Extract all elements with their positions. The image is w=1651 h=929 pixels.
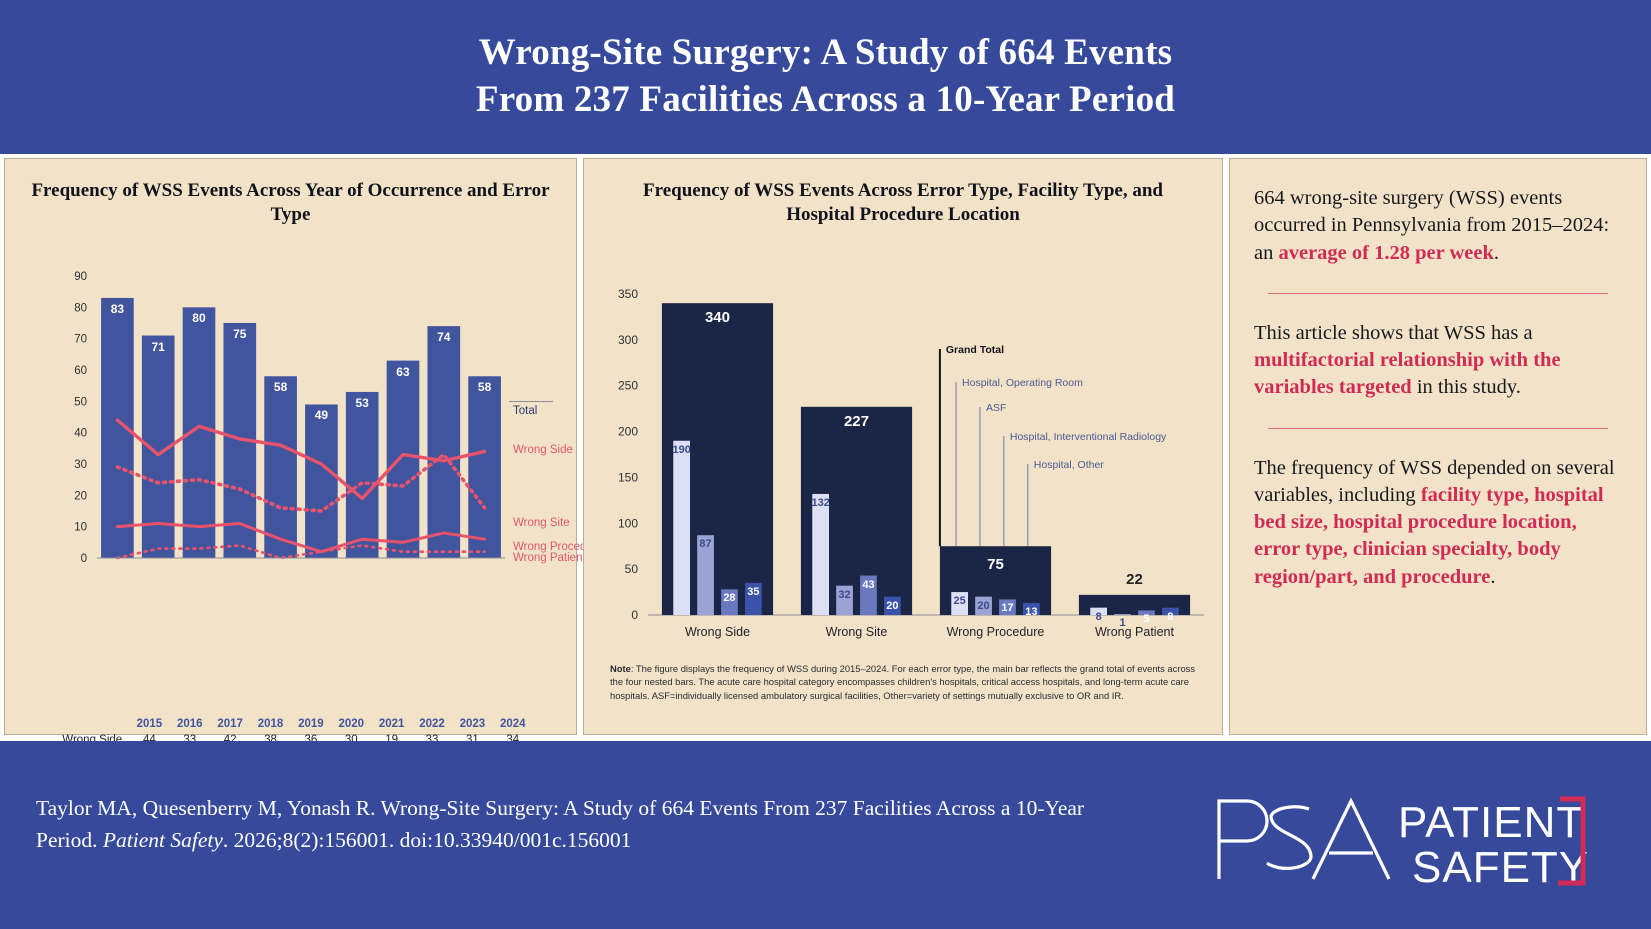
svg-text:80: 80	[74, 302, 87, 314]
chart1-legend-item: Wrong Site	[513, 517, 570, 529]
svg-text:200: 200	[618, 425, 638, 439]
chart2-note-text: : The figure displays the frequency of W…	[610, 663, 1195, 701]
svg-text:250: 250	[618, 379, 638, 393]
chart2-grand-total-value: 22	[1079, 571, 1190, 588]
finding-2-text-b: in this study.	[1412, 376, 1521, 398]
chart2-category-label: Wrong Patient	[1055, 625, 1214, 639]
psa-patient-safety-logo: PATIENT SAFETY	[1205, 783, 1605, 891]
chart1-table-year: 2018	[250, 716, 290, 732]
panel-chart-error-facility-location: Frequency of WSS Events Across Error Typ…	[583, 158, 1223, 735]
chart1-bar-value: 83	[101, 302, 134, 316]
chart1-bar-value: 58	[264, 380, 297, 394]
chart2-series-value: 190	[667, 444, 696, 456]
chart1-table-year: 2015	[129, 716, 169, 732]
chart2-series-value: 8	[1156, 611, 1185, 623]
chart2-note: Note: The figure displays the frequency …	[610, 662, 1210, 702]
citation-text-b: . 2026;8(2):156001. doi:10.33940/001c.15…	[223, 828, 631, 852]
chart2-category-label: Wrong Site	[777, 625, 936, 639]
citation-journal: Patient Safety	[103, 828, 223, 852]
chart1-bar-value: 80	[183, 311, 216, 325]
divider-2	[1268, 428, 1608, 429]
finding-block-1: 664 wrong-site surgery (WSS) events occu…	[1254, 185, 1622, 267]
svg-text:20: 20	[74, 490, 87, 502]
psa-monogram-icon	[1219, 801, 1389, 879]
finding-3-text-b: .	[1490, 566, 1495, 588]
chart2-grand-total-value: 75	[940, 556, 1051, 573]
chart2-leader-label: Hospital, Other	[1034, 459, 1104, 471]
divider-1	[1268, 293, 1608, 294]
logo-word-patient: PATIENT	[1398, 798, 1584, 847]
finding-2-text-a: This article shows that WSS has a	[1254, 322, 1533, 344]
svg-text:0: 0	[81, 553, 87, 565]
svg-text:50: 50	[625, 562, 639, 576]
chart2-grand-total-value: 340	[662, 309, 773, 326]
chart1-table-year: 2019	[291, 716, 331, 732]
chart2-series-value: 43	[854, 579, 883, 591]
citation: Taylor MA, Quesenberry M, Yonash R. Wron…	[36, 793, 1116, 857]
chart2-series-value: 132	[806, 497, 835, 509]
chart1-legend-item: Total	[513, 405, 537, 417]
finding-1-text-b: .	[1494, 242, 1499, 264]
svg-text:40: 40	[74, 428, 87, 440]
chart1-bar-value: 49	[305, 408, 338, 422]
svg-text:30: 30	[74, 459, 87, 471]
page-footer: Taylor MA, Quesenberry M, Yonash R. Wron…	[0, 741, 1651, 929]
chart1-table-year: 2020	[331, 716, 371, 732]
chart2-grand-total-value: 227	[801, 413, 912, 430]
chart2-series-value: 13	[1017, 606, 1046, 618]
chart1-plot: 0102030405060708090 83718075584953637458…	[5, 159, 578, 579]
chart1-legend-item: Wrong Patient	[513, 552, 586, 564]
finding-1-highlight: average of 1.28 per week	[1278, 242, 1493, 264]
chart2-note-label: Note	[610, 663, 631, 674]
chart1-bar-value: 71	[142, 340, 175, 354]
page-title: Wrong-Site Surgery: A Study of 664 Event…	[476, 30, 1175, 123]
chart2-category-label: Wrong Side	[638, 625, 797, 639]
svg-text:60: 60	[74, 365, 87, 377]
chart2-leader-label: ASF	[986, 402, 1006, 414]
logo-wordmark: PATIENT SAFETY	[1398, 798, 1589, 891]
svg-text:100: 100	[618, 516, 638, 530]
chart2-plot: 050100150200250300350 340190872835227132…	[584, 159, 1224, 659]
chart1-bar-value: 63	[387, 365, 420, 379]
page-title-line2: From 237 Facilities Across a 10-Year Per…	[476, 79, 1175, 120]
chart1-svg: 0102030405060708090	[5, 159, 578, 579]
finding-block-2: This article shows that WSS has a multif…	[1254, 320, 1622, 402]
chart1-table-year: 2021	[371, 716, 411, 732]
chart1-table-year: 2023	[452, 716, 492, 732]
finding-block-3: The frequency of WSS depended on several…	[1254, 455, 1622, 591]
chart1-table-year: 2016	[170, 716, 210, 732]
panel-key-findings: 664 wrong-site surgery (WSS) events occu…	[1229, 158, 1647, 735]
chart1-bar-value: 74	[427, 330, 460, 344]
chart1-table-year: 2022	[412, 716, 452, 732]
chart1-legend-total-rule	[509, 401, 553, 402]
chart1-bar-value: 75	[223, 327, 256, 341]
chart1-bar-value: 53	[346, 396, 379, 410]
svg-text:0: 0	[631, 608, 638, 622]
chart2-series-value: 20	[878, 600, 907, 612]
svg-text:70: 70	[74, 334, 87, 346]
chart1-bar-value: 58	[468, 380, 501, 394]
chart2-leader-label: Hospital, Interventional Radiology	[1010, 431, 1166, 443]
svg-text:350: 350	[618, 287, 638, 301]
chart1-table-header-row: 2015201620172018201920202021202220232024	[13, 716, 533, 732]
page-header: Wrong-Site Surgery: A Study of 664 Event…	[0, 0, 1651, 154]
svg-text:300: 300	[618, 333, 638, 347]
page-title-line1: Wrong-Site Surgery: A Study of 664 Event…	[479, 32, 1172, 73]
panel-chart-year-error-type: Frequency of WSS Events Across Year of O…	[4, 158, 577, 735]
chart2-leader-label: Hospital, Operating Room	[962, 377, 1083, 389]
chart1-legend-item: Wrong Side	[513, 444, 573, 456]
infographic-page: Wrong-Site Surgery: A Study of 664 Event…	[0, 0, 1651, 929]
svg-text:50: 50	[74, 396, 87, 408]
chart1-table-year: 2024	[493, 716, 533, 732]
chart2-series-value: 35	[739, 586, 768, 598]
svg-text:150: 150	[618, 470, 638, 484]
svg-text:10: 10	[74, 522, 87, 534]
chart2-series-value: 87	[691, 538, 720, 550]
chart2-leader-label: Grand Total	[946, 344, 1004, 356]
chart2-category-label: Wrong Procedure	[916, 625, 1075, 639]
chart1-table-year: 2017	[210, 716, 250, 732]
svg-text:90: 90	[74, 271, 87, 283]
